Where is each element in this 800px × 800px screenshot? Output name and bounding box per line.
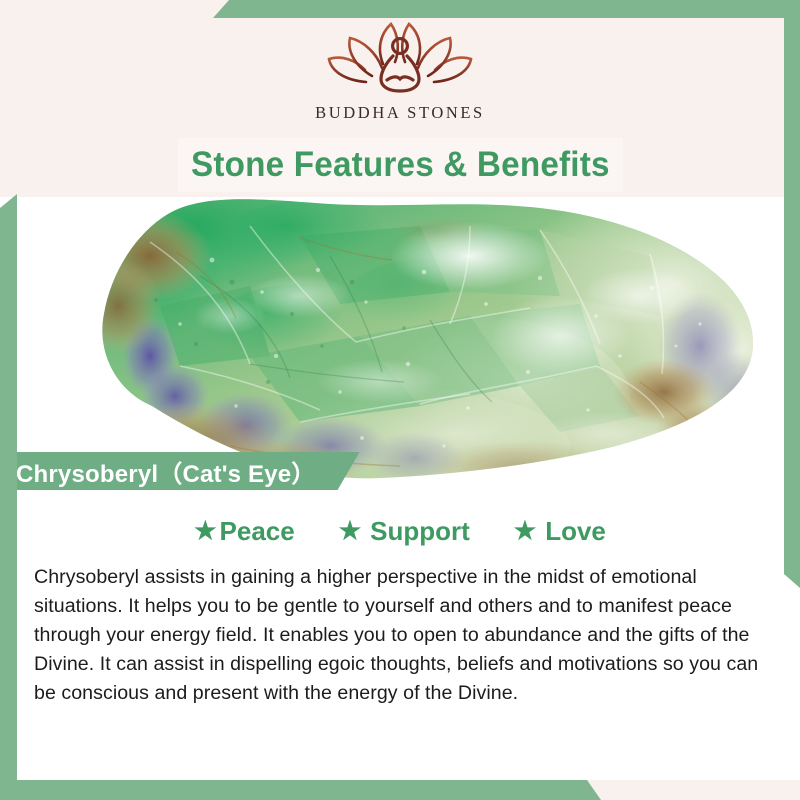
content-panel: ★ Peace ★ Support ★ Love Chrysoberyl ass… <box>0 496 800 800</box>
page-title-text: Stone Features & Benefits <box>191 145 610 185</box>
star-icon: ★ <box>194 519 216 544</box>
brand-name: BUDDHA STONES <box>315 103 485 123</box>
page-title: Stone Features & Benefits <box>178 138 623 192</box>
keyword-list: ★ Peace ★ Support ★ Love <box>0 516 800 547</box>
stone-specimen-image <box>0 196 800 496</box>
stone-description: Chrysoberyl assists in gaining a higher … <box>34 563 766 708</box>
stone-name-label: Chrysoberyl（Cat's Eye） <box>16 454 316 489</box>
keyword-item-peace: ★ Peace <box>194 516 295 547</box>
keyword-label: Support <box>370 516 470 547</box>
stone-photo <box>0 196 800 496</box>
lotus-meditation-logo-icon <box>325 18 475 100</box>
keyword-label: Peace <box>220 516 295 547</box>
stone-name-banner: Chrysoberyl（Cat's Eye） <box>0 452 360 490</box>
frame-right-band <box>784 0 800 588</box>
frame-top-band <box>213 0 800 18</box>
star-icon: ★ <box>514 519 536 544</box>
frame-left-band <box>0 194 17 800</box>
bottom-cream-strip <box>586 780 800 800</box>
stone-benefits-infographic: BUDDHA STONES <box>0 0 800 800</box>
frame-bottom-band <box>0 780 601 800</box>
keyword-label: Love <box>545 516 606 547</box>
keyword-item-love: ★ Love <box>514 516 606 547</box>
star-icon: ★ <box>339 519 361 544</box>
keyword-item-support: ★ Support <box>339 516 470 547</box>
brand-logo: BUDDHA STONES <box>0 18 800 136</box>
